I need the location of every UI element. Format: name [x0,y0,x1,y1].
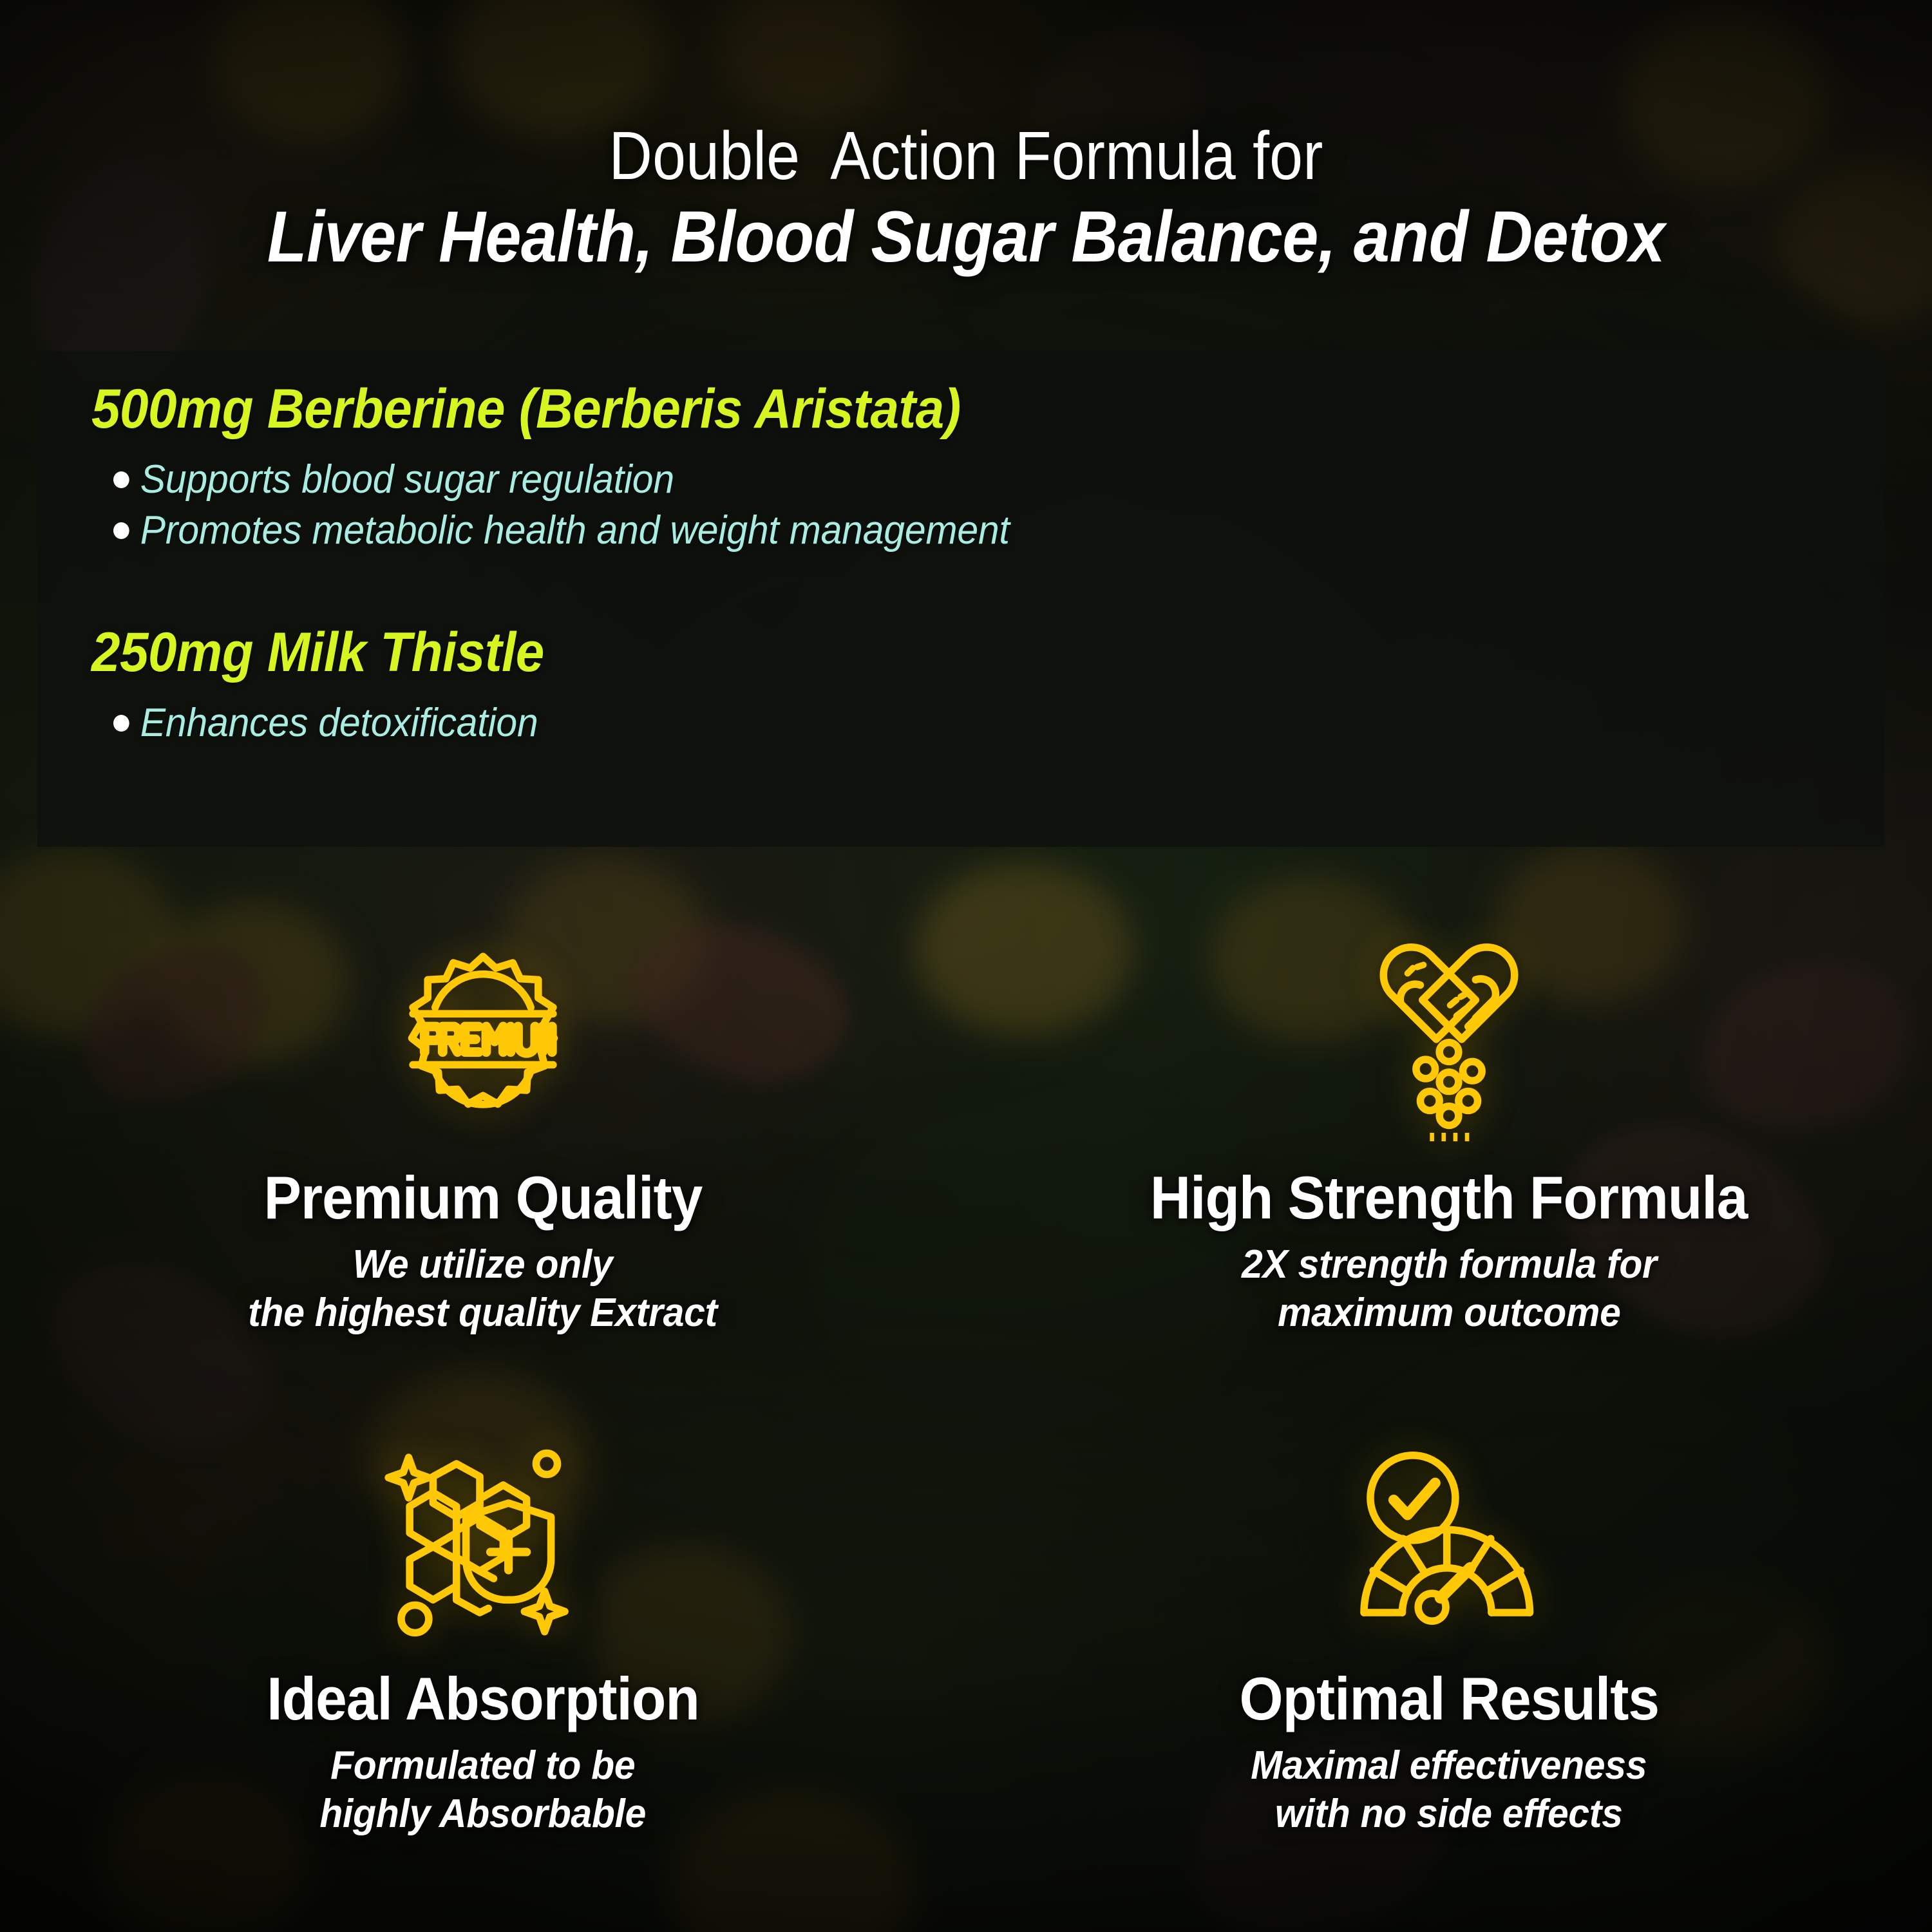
benefit-title: Optimal Results [1239,1667,1659,1731]
ingredient-block-milk-thistle: 250mg Milk Thistle Enhances detoxificati… [91,624,578,759]
honeycomb-shield-icon [377,1443,589,1655]
infographic-canvas: Double Action Formula for Liver Health, … [0,0,1932,1932]
benefits-grid: Premium Quality We utilize only the high… [0,914,1932,1893]
headline-line-2: Liver Health, Blood Sugar Balance, and D… [143,197,1789,276]
benefit-title: High Strength Formula [1150,1166,1748,1230]
ingredient-benefit-list: Enhances detoxification [91,698,578,748]
benefit-subtitle-line-2: with no side effects [1251,1790,1647,1839]
premium-badge-icon [377,942,589,1154]
headline-line-1: Double Action Formula for [161,120,1770,192]
benefit-subtitle-line-1: Formulated to be [320,1741,647,1790]
ingredients-panel: 500mg Berberine (Berberis Aristata) Supp… [37,351,1884,847]
benefit-subtitle-line-2: the highest quality Extract [249,1289,718,1338]
benefit-cell-ideal-absorption: Ideal Absorption Formulated to be highly… [0,1404,966,1893]
benefit-subtitle-line-1: 2X strength formula for [1242,1240,1657,1289]
open-capsule-granules-icon [1343,942,1555,1154]
benefit-cell-optimal-results: Optimal Results Maximal effectiveness wi… [966,1404,1932,1893]
ingredient-title: 250mg Milk Thistle [91,624,544,681]
benefit-subtitle-line-1: Maximal effectiveness [1251,1741,1647,1790]
benefit-subtitle: We utilize only the highest quality Extr… [249,1240,718,1338]
list-item: Promotes metabolic health and weight man… [113,506,1010,556]
benefit-title: Ideal Absorption [267,1667,699,1731]
headline-block: Double Action Formula for Liver Health, … [0,120,1932,277]
benefit-cell-premium-quality: Premium Quality We utilize only the high… [0,914,966,1404]
benefit-subtitle-line-2: maximum outcome [1242,1289,1657,1338]
benefit-title: Premium Quality [264,1166,703,1230]
ingredient-block-berberine: 500mg Berberine (Berberis Aristata) Supp… [91,381,1057,566]
ingredient-benefit-list: Supports blood sugar regulation Promotes… [91,455,1057,555]
benefit-cell-high-strength: High Strength Formula 2X strength formul… [966,914,1932,1404]
benefit-subtitle: Formulated to be highly Absorbable [320,1741,647,1839]
gauge-check-icon [1343,1443,1555,1655]
ingredient-title: 500mg Berberine (Berberis Aristata) [91,381,989,438]
benefit-subtitle-line-1: We utilize only [249,1240,718,1289]
list-item: Enhances detoxification [113,698,555,748]
benefit-subtitle: 2X strength formula for maximum outcome [1242,1240,1657,1338]
list-item: Supports blood sugar regulation [113,455,1010,505]
benefit-subtitle: Maximal effectiveness with no side effec… [1251,1741,1647,1839]
benefit-subtitle-line-2: highly Absorbable [320,1790,647,1839]
